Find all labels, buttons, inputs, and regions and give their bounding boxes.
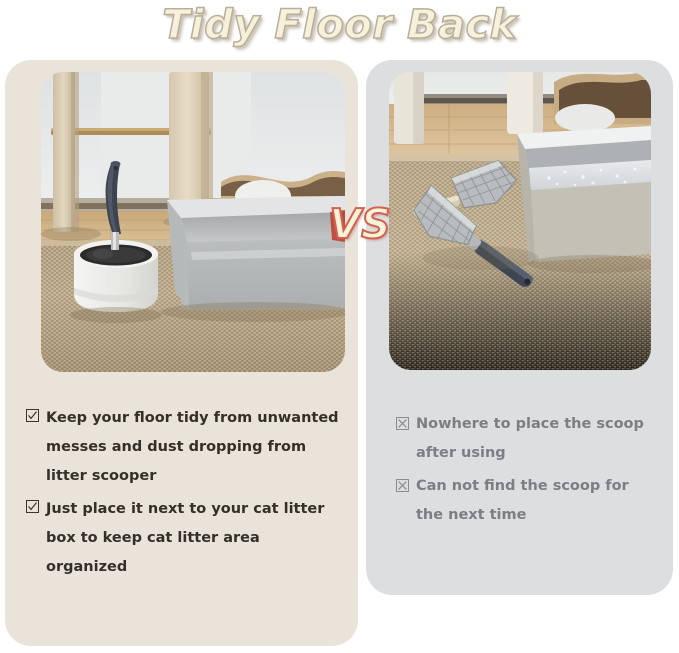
page-title: Tidy Floor Back	[0, 2, 679, 48]
right-drawbacks-list: Nowhere to place the scoop after using C…	[396, 410, 658, 534]
left-product-photo	[41, 72, 345, 372]
versus-badge: VS	[329, 196, 391, 252]
crossed-box-icon	[396, 417, 409, 430]
left-benefits-list: Keep your floor tidy from unwanted messe…	[26, 404, 346, 586]
checked-box-icon	[26, 409, 39, 422]
left-photo-graphic	[41, 72, 345, 372]
right-photo-graphic	[389, 72, 651, 370]
right-product-photo	[389, 72, 651, 370]
list-item: Can not find the scoop for the next time	[396, 472, 658, 530]
list-item-label: Just place it next to your cat litter bo…	[46, 495, 346, 582]
crossed-box-icon	[396, 479, 409, 492]
list-item-label: Can not find the scoop for the next time	[416, 472, 658, 530]
list-item-label: Keep your floor tidy from unwanted messe…	[46, 404, 346, 491]
list-item: Nowhere to place the scoop after using	[396, 410, 658, 468]
list-item: Just place it next to your cat litter bo…	[26, 495, 346, 582]
list-item-label: Nowhere to place the scoop after using	[416, 410, 658, 468]
list-item: Keep your floor tidy from unwanted messe…	[26, 404, 346, 491]
checked-box-icon	[26, 500, 39, 513]
